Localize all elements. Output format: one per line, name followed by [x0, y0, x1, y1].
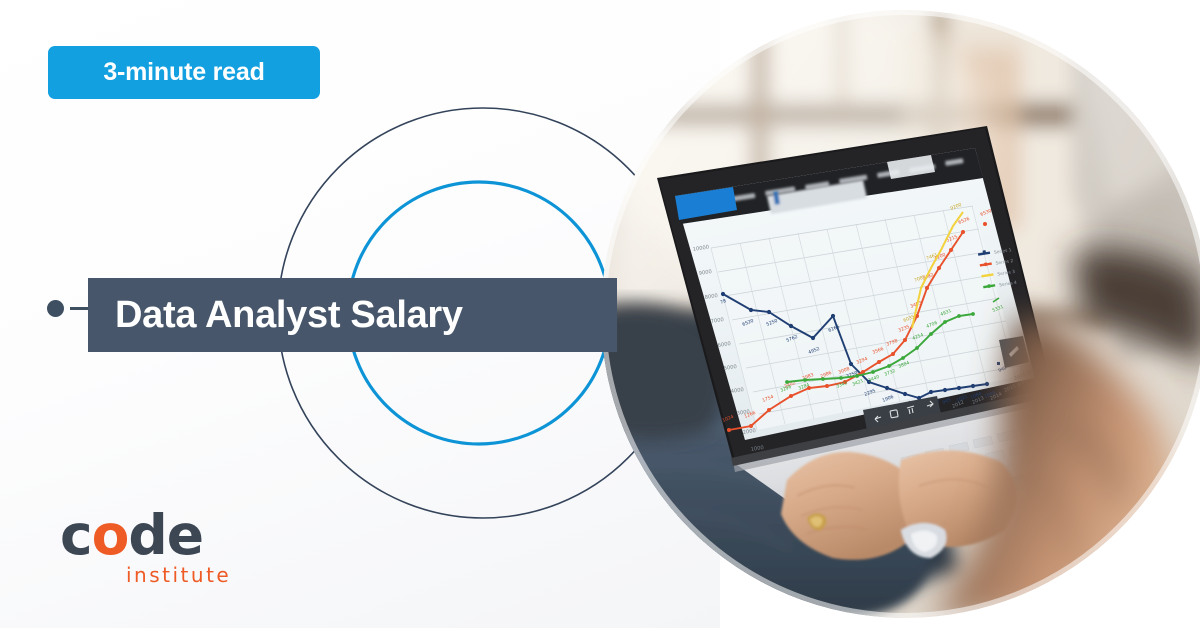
title-banner: Data Analyst Salary — [88, 278, 617, 352]
read-time-badge: 3-minute read — [48, 46, 320, 99]
bullet-dot-icon — [47, 300, 64, 317]
logo-word-o: o — [92, 503, 129, 567]
code-institute-logo: code institute — [60, 508, 280, 594]
logo-word-c: c — [60, 503, 92, 567]
read-time-label: 3-minute read — [103, 58, 264, 87]
logo-subtitle: institute — [126, 565, 280, 585]
hero-photo: 10000 9000 8000 7000 6000 5000 4000 3000… — [601, 10, 1200, 618]
bullet-dash-icon — [70, 307, 88, 310]
logo-word-de: de — [128, 503, 203, 567]
logo-wordmark: code — [60, 508, 280, 563]
poster-canvas: 10000 9000 8000 7000 6000 5000 4000 3000… — [0, 0, 1200, 628]
photo-illustration: 10000 9000 8000 7000 6000 5000 4000 3000… — [601, 10, 1200, 618]
page-title: Data Analyst Salary — [88, 294, 463, 337]
